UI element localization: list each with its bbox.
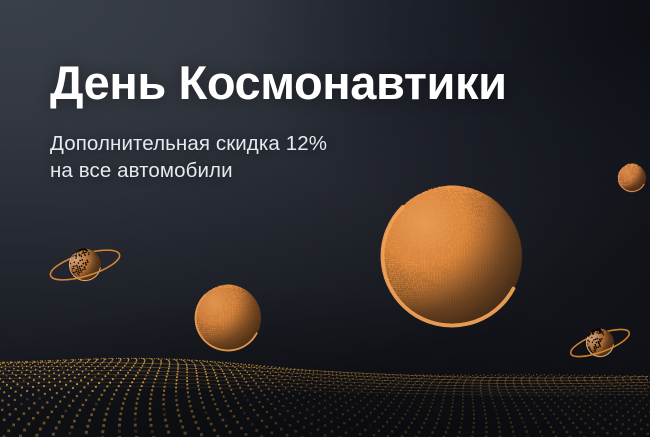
promo-subtitle: Дополнительная скидка 12% на все автомоб… <box>50 130 507 184</box>
space-promo-banner: День Космонавтики Дополнительная скидка … <box>0 0 650 437</box>
promo-text-block: День Космонавтики Дополнительная скидка … <box>50 58 507 184</box>
large-planet <box>378 182 526 330</box>
subtitle-line-2: на все автомобили <box>50 157 507 184</box>
page-title: День Космонавтики <box>50 58 507 108</box>
ringed-planet-left <box>41 221 129 309</box>
ringed-planet-right <box>561 304 639 382</box>
subtitle-line-1: Дополнительная скидка 12% <box>50 130 507 157</box>
medium-planet <box>191 281 265 355</box>
small-planet-top-right <box>614 160 650 196</box>
